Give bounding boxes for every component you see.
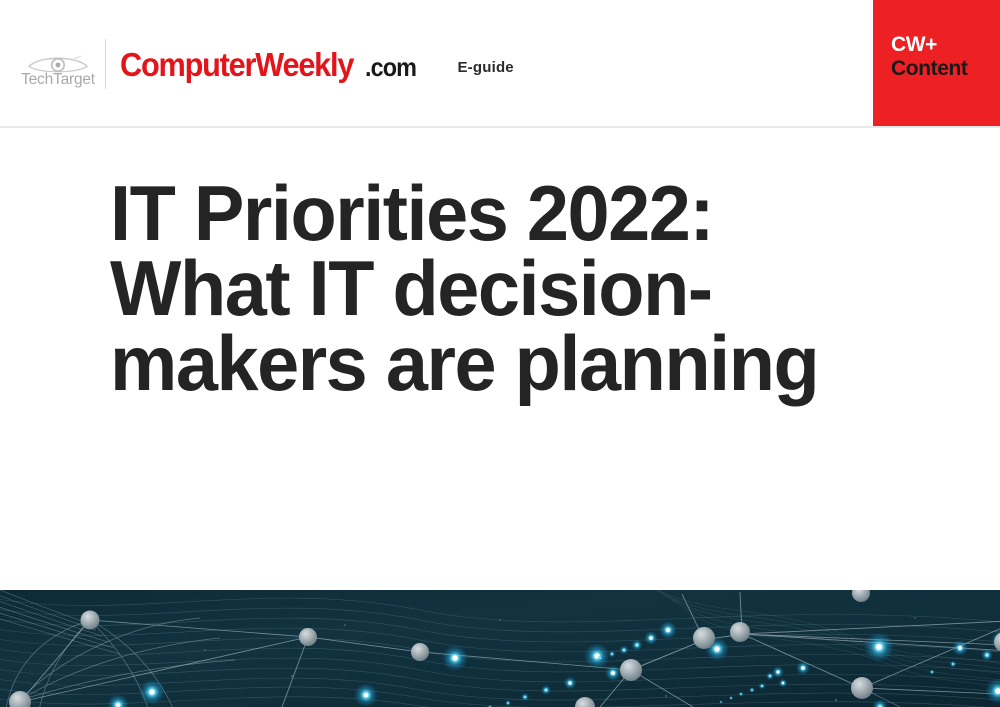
computerweekly-name: ComputerWeekly <box>120 48 353 81</box>
techtarget-wordmark: TechTarget <box>21 72 95 88</box>
e-guide-cover-page: TechTarget ComputerWeekly .com E-guide C… <box>0 0 1000 707</box>
page-header: TechTarget ComputerWeekly .com E-guide C… <box>0 0 1000 128</box>
hero-network-graphic <box>0 590 1000 707</box>
network-illustration <box>0 590 1000 707</box>
computerweekly-logo[interactable]: ComputerWeekly .com <box>120 48 421 81</box>
computerweekly-suffix: .com <box>365 54 416 80</box>
cw-plus-content-badge[interactable]: CW+ Content <box>873 0 1000 127</box>
content-type-label: E-guide <box>457 53 513 76</box>
cw-plus-content-badge-text: CW+ Content <box>891 33 968 80</box>
techtarget-logo[interactable]: TechTarget <box>18 40 98 89</box>
cw-content-label: Content <box>891 57 968 81</box>
page-title: IT Priorities 2022: What IT decision-mak… <box>110 176 876 401</box>
cw-plus-label: CW+ <box>891 33 968 57</box>
header-divider <box>0 126 1000 128</box>
eye-icon <box>27 53 89 73</box>
brand-lockup: TechTarget ComputerWeekly .com E-guide <box>18 38 514 90</box>
title-block: IT Priorities 2022: What IT decision-mak… <box>110 176 900 401</box>
brand-divider <box>105 39 106 89</box>
